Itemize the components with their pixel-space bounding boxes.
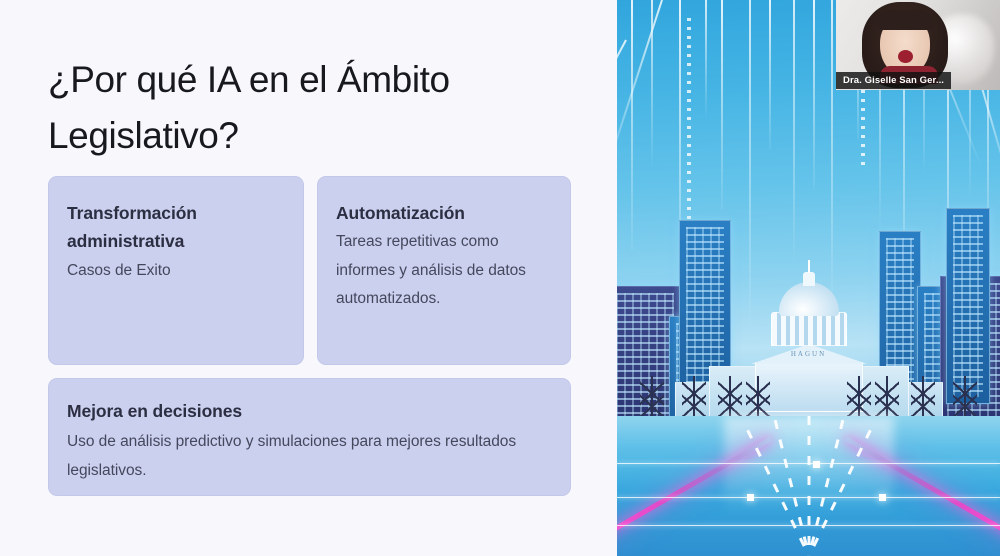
card-body: Uso de análisis predictivo y simulacione…: [67, 428, 552, 484]
card-heading: Automatización: [336, 199, 552, 227]
slide-cards: Transformación administrativa Casos de E…: [48, 176, 571, 496]
video-artwork-pane: ? HAGUN: [617, 0, 1000, 556]
card-heading: Mejora en decisiones: [67, 399, 552, 424]
screen-share-view: ¿Por qué IA en el Ámbito Legislativo? Tr…: [0, 0, 1000, 556]
capitol-sign: HAGUN: [709, 350, 909, 358]
speaker-bangs: [876, 10, 934, 30]
cityscape: HAGUN: [617, 226, 1000, 556]
participant-name-label: Dra. Giselle San Ger...: [836, 72, 951, 89]
card-automatizacion: Automatización Tareas repetitivas como i…: [317, 176, 571, 365]
slide-title: ¿Por qué IA en el Ámbito Legislativo?: [48, 52, 578, 164]
card-body: Tareas repetitivas como informes y análi…: [336, 228, 552, 313]
card-transformacion-administrativa: Transformación administrativa Casos de E…: [48, 176, 304, 365]
card-mejora-en-decisiones: Mejora en decisiones Uso de análisis pre…: [48, 378, 571, 496]
card-heading: Transformación administrativa: [67, 199, 285, 256]
neon-road: [617, 416, 1000, 556]
speaker-mouth: [898, 50, 913, 63]
building: [946, 208, 990, 404]
presentation-slide: ¿Por qué IA en el Ámbito Legislativo? Tr…: [0, 0, 617, 556]
webcam-thumbnail[interactable]: Dra. Giselle San Ger...: [836, 0, 1000, 90]
card-row-top: Transformación administrativa Casos de E…: [48, 176, 571, 365]
card-body: Casos de Exito: [67, 257, 285, 285]
